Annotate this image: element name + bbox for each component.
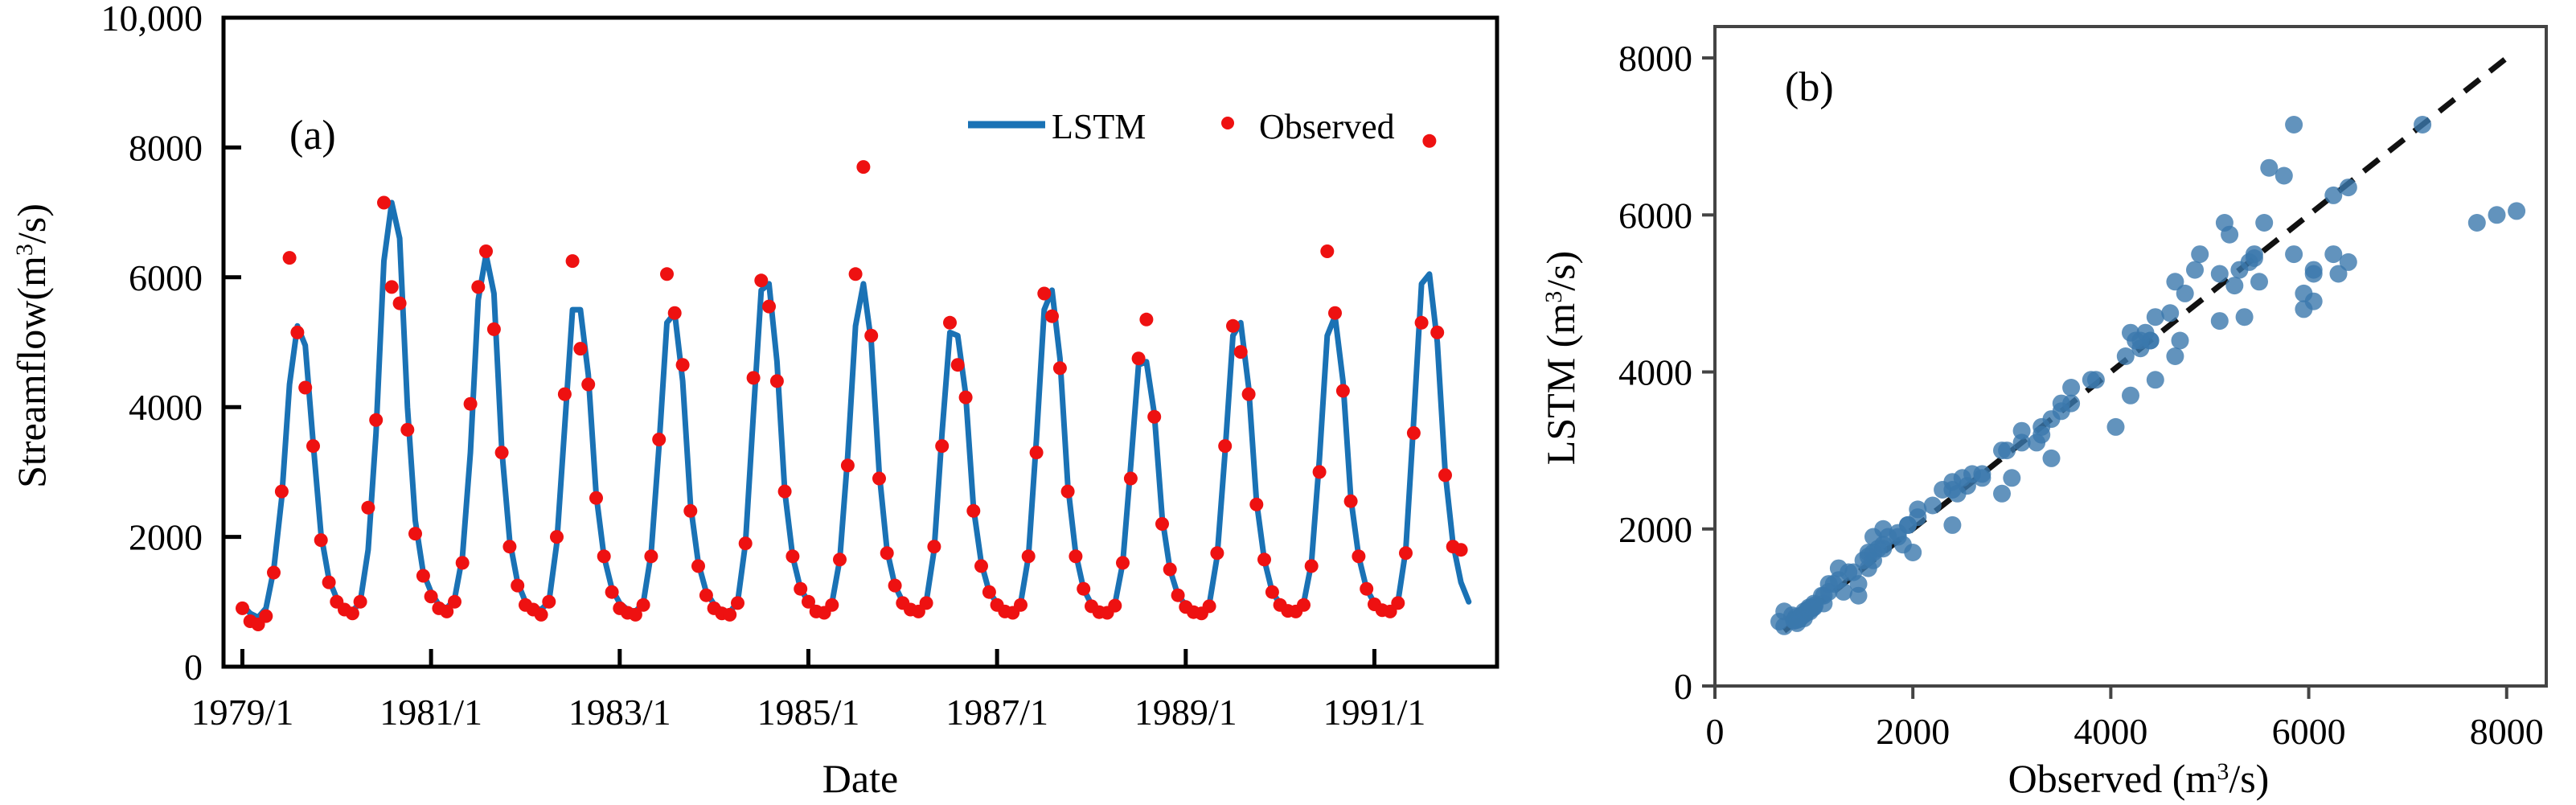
observed-dot bbox=[322, 576, 336, 589]
x-tick-label: 1989/1 bbox=[1134, 692, 1237, 733]
scatter-point bbox=[1943, 516, 1961, 534]
observed-dot bbox=[637, 598, 650, 612]
observed-dot bbox=[259, 610, 273, 623]
scatter-point bbox=[2172, 332, 2189, 350]
observed-dot bbox=[786, 549, 799, 563]
observed-dot bbox=[464, 397, 478, 411]
scatter-point bbox=[2305, 265, 2323, 283]
observed-dot bbox=[471, 280, 485, 294]
y-tick-label: 4000 bbox=[1618, 352, 1692, 393]
observed-dot bbox=[880, 546, 894, 560]
panel-b-label: (b) bbox=[1785, 64, 1834, 110]
observed-dot bbox=[794, 582, 807, 596]
scatter-point bbox=[2225, 277, 2243, 294]
scatter-point bbox=[2246, 245, 2263, 263]
observed-dot bbox=[393, 297, 407, 310]
observed-dot bbox=[535, 608, 548, 622]
x-tick-label: 1979/1 bbox=[191, 692, 294, 733]
observed-dot bbox=[298, 381, 312, 395]
observed-dot bbox=[1226, 319, 1240, 333]
scatter-point bbox=[2414, 116, 2431, 133]
observed-dot bbox=[747, 371, 761, 384]
observed-dot bbox=[487, 322, 501, 336]
observed-dot bbox=[699, 589, 713, 602]
observed-dot bbox=[502, 540, 516, 553]
scatter-point bbox=[2186, 261, 2204, 279]
x-tick-label: 1981/1 bbox=[379, 692, 482, 733]
observed-dot bbox=[731, 596, 744, 610]
observed-dot bbox=[1210, 546, 1224, 560]
observed-dot bbox=[385, 280, 399, 294]
scatter-point bbox=[1924, 497, 1942, 515]
panel-a-x-ticks: 1979/11981/11983/11985/11987/11989/11991… bbox=[191, 649, 1426, 733]
observed-dot bbox=[1344, 495, 1358, 508]
observed-dot bbox=[1014, 598, 1028, 612]
observed-dot bbox=[825, 598, 839, 612]
observed-dot bbox=[683, 504, 697, 518]
scatter-point bbox=[1820, 575, 1838, 593]
scatter-point bbox=[2107, 418, 2125, 436]
scatter-point bbox=[2324, 187, 2342, 204]
observed-dot bbox=[1069, 549, 1082, 563]
observed-dot bbox=[982, 585, 996, 599]
panel-b-xlabel-pre: Observed (m bbox=[2008, 756, 2217, 801]
observed-dot bbox=[267, 566, 281, 580]
scatter-point bbox=[2127, 332, 2144, 350]
observed-dot bbox=[864, 329, 878, 343]
observed-dot bbox=[581, 378, 595, 392]
observed-dot bbox=[1336, 384, 1350, 398]
panel-b-ylabel-pre: LSTM (m bbox=[1538, 303, 1583, 466]
scatter-point bbox=[2250, 273, 2268, 290]
svg-text:LSTM (m3/s): LSTM (m3/s) bbox=[1538, 251, 1583, 465]
observed-dot bbox=[361, 501, 375, 515]
scatter-point bbox=[2161, 304, 2179, 322]
observed-dot bbox=[573, 342, 587, 355]
observed-dot bbox=[1030, 446, 1044, 459]
observed-dot bbox=[1139, 313, 1153, 327]
scatter-point bbox=[2122, 387, 2139, 405]
observed-dot bbox=[920, 596, 933, 610]
observed-dot bbox=[1265, 585, 1279, 599]
observed-dot bbox=[511, 579, 524, 593]
scatter-point bbox=[2147, 371, 2164, 388]
observed-dot bbox=[275, 485, 289, 499]
observed-dot bbox=[1132, 351, 1146, 365]
legend-lstm-label: LSTM bbox=[1052, 107, 1146, 146]
observed-dot bbox=[1438, 468, 1452, 482]
panel-a-xlabel: Date bbox=[822, 756, 898, 801]
scatter-point bbox=[1850, 587, 1868, 605]
y-tick-label: 6000 bbox=[1618, 195, 1692, 236]
panel-b-ylabel-sup: 3 bbox=[1540, 291, 1567, 303]
scatter-point bbox=[2305, 293, 2323, 310]
scatter-point bbox=[2211, 312, 2229, 330]
observed-dot bbox=[416, 569, 430, 583]
observed-dot bbox=[1305, 559, 1319, 573]
panel-a-ylabel-sup: 3 bbox=[11, 244, 38, 256]
scatter-point bbox=[1993, 485, 2011, 503]
observed-dot bbox=[1297, 598, 1311, 612]
y-tick-label: 0 bbox=[184, 647, 203, 688]
observed-dot bbox=[605, 585, 619, 599]
observed-dot bbox=[644, 549, 658, 563]
panel-b-xlabel: Observed (m3/s) bbox=[2008, 756, 2270, 801]
observed-dot bbox=[1061, 485, 1075, 499]
scatter-point bbox=[1909, 508, 1926, 526]
observed-dot bbox=[1045, 310, 1059, 323]
x-tick-label: 1991/1 bbox=[1323, 692, 1426, 733]
x-tick-label: 6000 bbox=[2272, 711, 2346, 752]
observed-dot bbox=[1077, 582, 1090, 596]
observed-dot bbox=[425, 589, 438, 603]
observed-dot bbox=[558, 388, 572, 401]
y-tick-label: 0 bbox=[1674, 666, 1692, 707]
observed-dot bbox=[1391, 596, 1405, 610]
observed-dot bbox=[1218, 439, 1232, 453]
observed-dot bbox=[354, 595, 367, 609]
scatter-point bbox=[2013, 433, 2031, 451]
observed-dot bbox=[856, 160, 870, 174]
scatter-point bbox=[2508, 202, 2525, 220]
observed-dot bbox=[770, 374, 784, 388]
observed-dot bbox=[1155, 517, 1169, 531]
scatter-point bbox=[2191, 245, 2209, 263]
observed-dot bbox=[306, 439, 320, 453]
observed-dot bbox=[542, 595, 556, 609]
svg-text:Streamflow(m3/s): Streamflow(m3/s) bbox=[9, 203, 54, 488]
panel-a-legend: LSTM Observed bbox=[968, 107, 1395, 146]
observed-dot bbox=[1163, 563, 1177, 577]
observed-dot bbox=[1399, 546, 1413, 560]
scatter-point bbox=[2260, 159, 2278, 177]
observed-dot bbox=[495, 446, 509, 459]
x-tick-label: 0 bbox=[1706, 711, 1725, 752]
panel-b-ylabel: LSTM (m3/s) bbox=[1538, 251, 1583, 465]
observed-dot bbox=[1171, 589, 1185, 602]
legend-observed-label: Observed bbox=[1259, 107, 1395, 146]
observed-dot bbox=[841, 458, 855, 472]
observed-dot bbox=[1234, 345, 1248, 359]
scatter-point bbox=[2043, 450, 2061, 467]
scatter-point bbox=[1860, 560, 1877, 577]
legend-observed-dot-swatch bbox=[1221, 117, 1234, 129]
observed-dot bbox=[739, 536, 753, 550]
observed-dot bbox=[1242, 388, 1256, 401]
observed-dot bbox=[589, 491, 603, 505]
panel-a-timeseries: 0200040006000800010,000 1979/11981/11983… bbox=[0, 0, 1528, 805]
scatter-point bbox=[2275, 167, 2293, 185]
scatter-point bbox=[2468, 214, 2486, 232]
scatter-point bbox=[1840, 564, 1857, 581]
observed-dot bbox=[1328, 306, 1342, 320]
x-tick-label: 2000 bbox=[1876, 711, 1950, 752]
observed-dot bbox=[668, 306, 682, 320]
observed-dot bbox=[1352, 549, 1365, 563]
observed-dot bbox=[369, 413, 383, 427]
panel-b-xlabel-post: /s) bbox=[2229, 756, 2269, 801]
scatter-point bbox=[2488, 206, 2506, 224]
observed-dot bbox=[566, 254, 580, 268]
observed-dot bbox=[927, 540, 941, 553]
scatter-point bbox=[2340, 179, 2357, 196]
observed-dot bbox=[1422, 134, 1436, 148]
y-tick-label: 10,000 bbox=[101, 0, 203, 39]
panel-b-scatter: 80006000400020000 02000400060008000 (b) … bbox=[1528, 0, 2576, 805]
observed-dot bbox=[448, 595, 461, 609]
observed-dot bbox=[1203, 599, 1216, 613]
observed-dot bbox=[1430, 326, 1444, 339]
panel-a-ylabel-post: /s) bbox=[9, 203, 54, 244]
x-tick-label: 8000 bbox=[2470, 711, 2544, 752]
observed-dot bbox=[1108, 599, 1122, 613]
panel-a-svg: 0200040006000800010,000 1979/11981/11983… bbox=[0, 0, 1528, 805]
scatter-point bbox=[2324, 245, 2342, 263]
observed-dot bbox=[1454, 543, 1468, 557]
observed-dot bbox=[377, 196, 391, 210]
panel-a-ylabel-pre: Streamflow(m bbox=[9, 256, 54, 488]
observed-dot bbox=[1124, 472, 1138, 486]
x-tick-label: 1987/1 bbox=[945, 692, 1048, 733]
observed-dot bbox=[597, 549, 611, 563]
scatter-point bbox=[2285, 245, 2303, 263]
scatter-point bbox=[2003, 469, 2020, 487]
scatter-point bbox=[2062, 379, 2080, 396]
x-tick-label: 4000 bbox=[2074, 711, 2147, 752]
scatter-point bbox=[2176, 285, 2194, 302]
scatter-point bbox=[1889, 524, 1907, 542]
observed-dot bbox=[1313, 465, 1327, 478]
observed-dot bbox=[849, 267, 863, 281]
scatter-point bbox=[2087, 371, 2105, 388]
observed-dot bbox=[754, 273, 768, 287]
scatter-point bbox=[2032, 426, 2050, 444]
y-tick-label: 8000 bbox=[129, 127, 203, 168]
observed-dot bbox=[872, 472, 886, 486]
observed-dot bbox=[951, 358, 965, 372]
observed-dot bbox=[691, 559, 705, 573]
scatter-point bbox=[2285, 116, 2303, 133]
observed-dot bbox=[1116, 556, 1130, 569]
y-tick-label: 8000 bbox=[1618, 38, 1692, 79]
panel-b-x-ticks: 02000400060008000 bbox=[1706, 686, 2544, 752]
scatter-point bbox=[2147, 308, 2164, 326]
x-tick-label: 1983/1 bbox=[568, 692, 671, 733]
observed-dot bbox=[778, 485, 792, 499]
observed-dot bbox=[550, 530, 564, 544]
panel-b-svg: 80006000400020000 02000400060008000 (b) … bbox=[1528, 0, 2576, 805]
scatter-point bbox=[1904, 544, 1922, 561]
lstm-series-line bbox=[243, 203, 1469, 618]
scatter-point bbox=[2255, 214, 2273, 232]
observed-dot bbox=[723, 608, 736, 622]
observed-dot bbox=[479, 244, 493, 258]
scatter-point bbox=[2221, 226, 2238, 244]
panel-b-xlabel-sup: 3 bbox=[2217, 758, 2229, 785]
observed-dot bbox=[1360, 582, 1373, 596]
panel-a-label: (a) bbox=[289, 113, 336, 158]
scatter-point bbox=[2236, 308, 2254, 326]
observed-dot bbox=[290, 326, 304, 339]
scatter-point bbox=[1791, 608, 1809, 626]
observed-dot bbox=[1037, 287, 1051, 301]
scatter-point bbox=[2117, 347, 2135, 365]
scatter-point bbox=[1934, 481, 1951, 499]
observed-dot bbox=[833, 552, 847, 566]
observed-dot bbox=[974, 559, 988, 573]
scatter-point bbox=[1973, 469, 1991, 487]
observed-dot bbox=[966, 504, 980, 518]
observed-dot bbox=[456, 556, 470, 569]
scatter-point bbox=[2166, 347, 2184, 365]
observed-dot bbox=[1053, 361, 1067, 375]
observed-dot bbox=[959, 391, 973, 405]
x-tick-label: 1985/1 bbox=[757, 692, 860, 733]
figure-root: 0200040006000800010,000 1979/11981/11983… bbox=[0, 0, 2576, 805]
observed-dot bbox=[314, 533, 328, 547]
observed-dot bbox=[1320, 244, 1334, 258]
panel-b-ylabel-post: /s) bbox=[1538, 251, 1583, 291]
observed-dot bbox=[346, 606, 359, 620]
panel-a-ylabel: Streamflow(m3/s) bbox=[9, 203, 54, 488]
y-tick-label: 6000 bbox=[129, 257, 203, 298]
observed-dot bbox=[762, 300, 776, 314]
observed-dot bbox=[1415, 316, 1429, 330]
observed-dot bbox=[400, 423, 414, 437]
observed-dot bbox=[283, 251, 297, 265]
observed-dot bbox=[935, 439, 949, 453]
observed-dot bbox=[888, 579, 902, 593]
observed-dot bbox=[236, 602, 249, 615]
scatter-point bbox=[2053, 395, 2070, 413]
panel-b-y-ticks: 80006000400020000 bbox=[1618, 38, 1715, 707]
observed-dot bbox=[1249, 498, 1263, 511]
scatter-point bbox=[2211, 265, 2229, 283]
y-tick-label: 2000 bbox=[129, 517, 203, 558]
observed-dot bbox=[1022, 549, 1036, 563]
scatter-point bbox=[1874, 520, 1892, 538]
y-tick-label: 2000 bbox=[1618, 509, 1692, 550]
observed-dot bbox=[408, 527, 422, 540]
observed-dot bbox=[1407, 426, 1421, 440]
scatter-point bbox=[2340, 253, 2357, 271]
y-tick-label: 4000 bbox=[129, 387, 203, 428]
observed-dot bbox=[660, 267, 674, 281]
scatter-points bbox=[1770, 116, 2525, 635]
observed-dot bbox=[652, 433, 666, 446]
observed-dot bbox=[1257, 552, 1271, 566]
observed-dot bbox=[676, 358, 690, 372]
observed-dot bbox=[943, 316, 957, 330]
panel-a-y-ticks: 0200040006000800010,000 bbox=[101, 0, 242, 688]
observed-dot bbox=[1147, 410, 1161, 424]
